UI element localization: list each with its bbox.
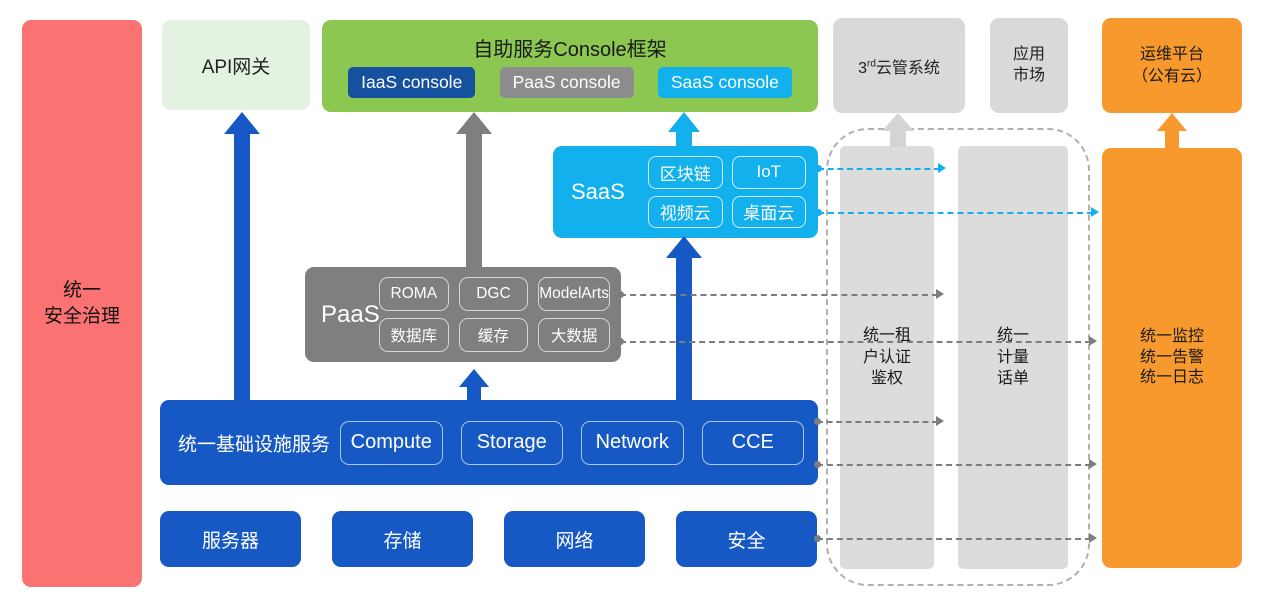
arrow-infra-to-api-gateway <box>224 112 260 404</box>
arrow-infra-to-paas <box>459 369 489 405</box>
arrow-shared-to-third-party <box>882 113 914 147</box>
paas-chip-database[interactable]: 数据库 <box>379 318 449 352</box>
hardware-box-network[interactable]: 网络 <box>504 511 645 567</box>
infra-label: 统一基础设施服务 <box>178 429 330 456</box>
metering-line-3: 话单 <box>997 368 1029 390</box>
hardware-box-storage[interactable]: 存储 <box>332 511 473 567</box>
arrowhead-saas-to-ops <box>1091 207 1099 217</box>
saas-console-chip[interactable]: SaaS console <box>658 67 792 98</box>
self-service-console-framework: 自助服务Console框架 IaaS console PaaS console … <box>322 20 818 112</box>
arrowhead-infra-to-tenant-auth <box>936 416 944 426</box>
architecture-diagram: 统一 安全治理 API网关 自助服务Console框架 IaaS console… <box>0 0 1265 605</box>
infra-chip-storage[interactable]: Storage <box>461 421 564 465</box>
infra-chip-cce[interactable]: CCE <box>702 421 805 465</box>
saas-chip-blockchain[interactable]: 区块链 <box>648 156 723 189</box>
paas-chip-bigdata[interactable]: 大数据 <box>538 318 610 352</box>
infra-chip-network[interactable]: Network <box>581 421 684 465</box>
paas-chip-dgc[interactable]: DGC <box>459 277 529 311</box>
infra-chip-row: Compute Storage Network CCE <box>340 421 804 465</box>
paas-chip-roma[interactable]: ROMA <box>379 277 449 311</box>
paas-chip-cache[interactable]: 缓存 <box>459 318 529 352</box>
ops-platform-line-2: （公有云） <box>1132 66 1212 88</box>
hardware-label-network: 网络 <box>555 526 593 553</box>
arrowhead-paas-to-ops <box>1089 336 1097 346</box>
tenant-auth-line-1: 统一租 <box>863 325 911 347</box>
paas-chip-modelarts[interactable]: ModelArts <box>538 277 610 311</box>
connector-infra-to-ops <box>817 464 1091 466</box>
saas-service-grid: 区块链 IoT 视频云 桌面云 <box>648 156 806 228</box>
hardware-label-server: 服务器 <box>202 526 259 553</box>
iaas-console-chip[interactable]: IaaS console <box>348 67 475 98</box>
tenant-auth-line-3: 鉴权 <box>863 368 911 390</box>
arrowhead-infra-to-ops <box>1089 459 1097 469</box>
third-party-cloud-mgmt-box: 3rd云管系统 <box>833 18 965 113</box>
saas-chip-desktop-cloud[interactable]: 桌面云 <box>732 196 807 229</box>
ops-panel-line-2: 统一告警 <box>1140 348 1204 369</box>
tenant-auth-line-2: 户认证 <box>863 347 911 369</box>
paas-label: PaaS <box>321 301 380 329</box>
third-party-label: 3rd云管系统 <box>858 54 940 78</box>
connector-saas-to-tenant-auth <box>818 168 940 170</box>
arrowhead-paas-to-tenant-auth <box>936 289 944 299</box>
unified-security-governance-panel: 统一 安全治理 <box>22 20 142 587</box>
shared-service-column-tenant-auth: 统一租 户认证 鉴权 <box>840 146 934 569</box>
shared-service-column-metering: 统一 计量 话单 <box>958 146 1068 569</box>
arrow-infra-to-saas <box>666 236 702 404</box>
connector-paas-to-tenant-auth <box>620 294 938 296</box>
connector-saas-to-ops <box>818 212 1093 214</box>
saas-block: SaaS 区块链 IoT 视频云 桌面云 <box>553 146 818 238</box>
saas-chip-video-cloud[interactable]: 视频云 <box>648 196 723 229</box>
connector-paas-to-ops <box>620 341 1091 343</box>
arrow-saas-to-console <box>668 112 700 150</box>
metering-line-1: 统一 <box>997 325 1029 347</box>
hardware-label-storage: 存储 <box>383 526 421 553</box>
paas-block: PaaS ROMA DGC ModelArts 数据库 缓存 大数据 <box>305 267 621 362</box>
console-framework-title: 自助服务Console框架 <box>473 33 666 62</box>
hardware-box-security[interactable]: 安全 <box>676 511 817 567</box>
api-gateway-box: API网关 <box>162 20 310 110</box>
arrowhead-saas-to-tenant-auth <box>938 163 946 173</box>
api-gateway-label: API网关 <box>202 52 271 79</box>
ops-panel-line-1: 统一监控 <box>1140 327 1204 348</box>
paas-service-grid: ROMA DGC ModelArts 数据库 缓存 大数据 <box>379 277 610 352</box>
arrowhead-hardware-to-ops <box>1089 533 1097 543</box>
security-line-1: 统一 <box>44 278 120 304</box>
security-line-2: 安全治理 <box>44 304 120 330</box>
ops-platform-public-cloud-box: 运维平台 （公有云） <box>1102 18 1242 113</box>
unified-infrastructure-service-bar: 统一基础设施服务 Compute Storage Network CCE <box>160 400 818 485</box>
saas-label: SaaS <box>571 179 625 205</box>
console-chip-row: IaaS console PaaS console SaaS console <box>322 67 818 98</box>
arrow-paas-to-console <box>456 112 492 270</box>
hardware-label-security: 安全 <box>727 526 765 553</box>
connector-infra-to-tenant-auth <box>817 421 938 423</box>
saas-chip-iot[interactable]: IoT <box>732 156 807 189</box>
hardware-box-server[interactable]: 服务器 <box>160 511 301 567</box>
paas-console-chip[interactable]: PaaS console <box>500 67 634 98</box>
app-market-line-2: 市场 <box>1013 66 1045 87</box>
ops-platform-line-1: 运维平台 <box>1132 44 1212 66</box>
connector-hardware-to-ops <box>817 538 1091 540</box>
app-market-box: 应用 市场 <box>990 18 1068 113</box>
arrow-to-ops-platform <box>1157 113 1187 149</box>
unified-monitoring-panel: 统一监控 统一告警 统一日志 <box>1102 148 1242 568</box>
infra-chip-compute[interactable]: Compute <box>340 421 443 465</box>
ops-panel-line-3: 统一日志 <box>1140 368 1204 389</box>
metering-line-2: 计量 <box>997 347 1029 369</box>
app-market-line-1: 应用 <box>1013 45 1045 66</box>
